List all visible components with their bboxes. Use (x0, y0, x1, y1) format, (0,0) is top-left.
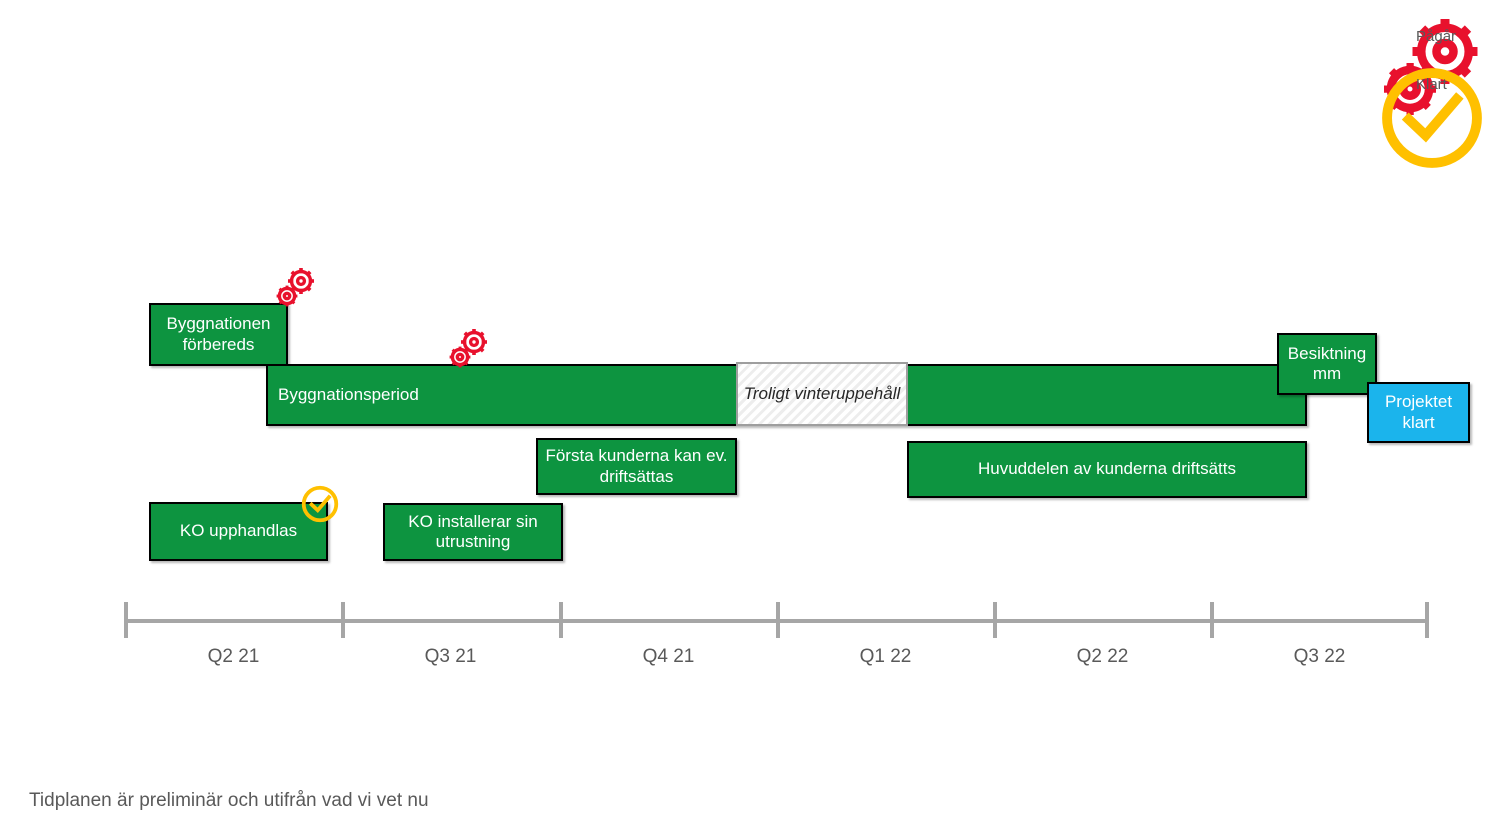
axis-tick (124, 602, 128, 638)
task-label: Besiktning mm (1285, 344, 1369, 384)
task-label: Huvuddelen av kunderna driftsätts (915, 459, 1299, 479)
task-bar-ko-installerar[interactable]: KO installerar sin utrustning (383, 503, 563, 561)
legend-label-pagar: Pågår (1416, 28, 1456, 45)
task-bar-forsta-kunderna[interactable]: Första kunderna kan ev. driftsättas (536, 438, 737, 495)
axis-label-q3-21: Q3 21 (341, 646, 560, 668)
axis-label-q2-22: Q2 22 (993, 646, 1212, 668)
axis-tick (993, 602, 997, 638)
task-bar-byggnationen-forbereds[interactable]: Byggnationen förbereds (149, 303, 288, 366)
task-label: Första kunderna kan ev. driftsättas (544, 446, 729, 486)
task-bar-vinteruppehall[interactable]: Troligt vinteruppehåll (736, 362, 908, 426)
axis-tick (559, 602, 563, 638)
legend: Pågår Klart (1370, 14, 1490, 98)
task-bar-projektet-klart[interactable]: Projektet klart (1367, 382, 1470, 443)
axis-tick (776, 602, 780, 638)
legend-item-pagar: Pågår (1370, 14, 1490, 56)
axis-label-q4-21: Q4 21 (559, 646, 778, 668)
task-bar-ko-upphandlas[interactable]: KO upphandlas (149, 502, 328, 561)
task-label: Troligt vinteruppehåll (744, 384, 901, 404)
axis-label-q2-21: Q2 21 (124, 646, 343, 668)
task-label: Byggnationen förbereds (157, 314, 280, 354)
task-label: KO installerar sin utrustning (391, 512, 555, 552)
task-bar-besiktning[interactable]: Besiktning mm (1277, 333, 1377, 395)
axis-label-q3-22: Q3 22 (1210, 646, 1429, 668)
task-bar-huvuddelen[interactable]: Huvuddelen av kunderna driftsätts (907, 441, 1307, 498)
axis-tick (341, 602, 345, 638)
task-label: KO upphandlas (157, 521, 320, 541)
footer-note: Tidplanen är preliminär och utifrån vad … (29, 790, 429, 812)
task-label: Projektet klart (1375, 392, 1462, 432)
axis-tick (1210, 602, 1214, 638)
task-label: Byggnationsperiod (274, 385, 419, 405)
legend-label-klart: Klart (1416, 76, 1447, 93)
legend-item-klart: Klart (1370, 56, 1490, 98)
axis-label-q1-22: Q1 22 (776, 646, 995, 668)
axis-tick (1425, 602, 1429, 638)
